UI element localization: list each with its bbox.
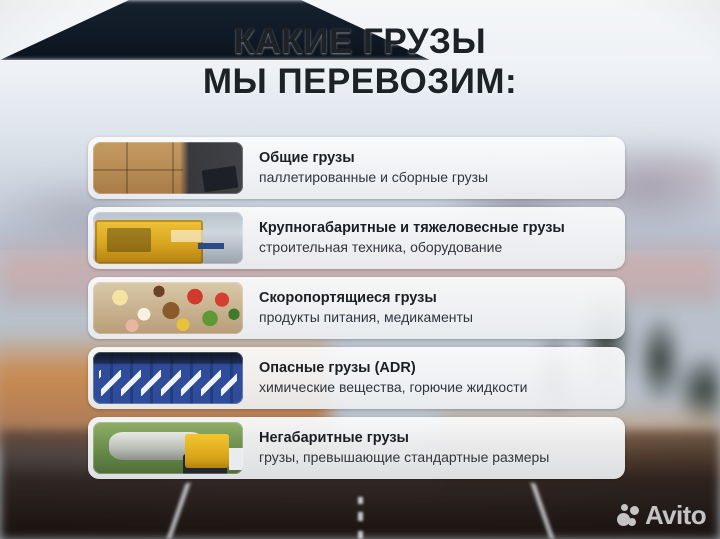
- avito-logo-icon: [617, 504, 639, 526]
- list-item-subtitle: химические вещества, горючие жидкости: [259, 378, 527, 396]
- page-title-line-1: КАКИЕ ГРУЗЫ: [234, 22, 486, 61]
- list-item[interactable]: Скоропортящиеся грузы продукты питания, …: [88, 277, 625, 339]
- road-center-dash: [358, 512, 363, 521]
- thumbnail-oversize-truck: [93, 422, 243, 474]
- list-item-title: Общие грузы: [259, 149, 488, 167]
- poster-canvas: КАКИЕ ГРУЗЫ МЫ ПЕРЕВОЗИМ: Общие грузы па…: [0, 0, 720, 539]
- list-item-text: Негабаритные грузы грузы, превышающие ст…: [243, 429, 559, 466]
- page-title-line-2: МЫ ПЕРЕВОЗИМ:: [0, 62, 720, 102]
- boxes-icon: [93, 142, 243, 194]
- avito-wordmark: Avito: [645, 502, 706, 528]
- list-item-text: Общие грузы паллетированные и сборные гр…: [243, 149, 498, 186]
- list-item-title: Крупногабаритные и тяжеловесные грузы: [259, 219, 565, 237]
- list-item[interactable]: Негабаритные грузы грузы, превышающие ст…: [88, 417, 625, 479]
- list-item[interactable]: Опасные грузы (ADR) химические вещества,…: [88, 347, 625, 409]
- list-item-title: Негабаритные грузы: [259, 429, 549, 447]
- list-item-text: Крупногабаритные и тяжеловесные грузы ст…: [243, 219, 575, 256]
- list-item[interactable]: Общие грузы паллетированные и сборные гр…: [88, 137, 625, 199]
- avito-watermark: Avito: [617, 502, 706, 528]
- thumbnail-food-produce: [93, 282, 243, 334]
- road-center-dash: [358, 497, 363, 504]
- produce-icon: [93, 282, 243, 334]
- list-item-subtitle: строительная техника, оборудование: [259, 238, 565, 256]
- page-title: КАКИЕ ГРУЗЫ МЫ ПЕРЕВОЗИМ:: [0, 22, 720, 101]
- road-center-dash: [358, 531, 363, 539]
- list-item-subtitle: паллетированные и сборные грузы: [259, 168, 488, 186]
- list-item-title: Опасные грузы (ADR): [259, 359, 527, 377]
- truck-icon: [93, 422, 243, 474]
- list-item-subtitle: продукты питания, медикаменты: [259, 308, 473, 326]
- excavator-icon: [93, 212, 243, 264]
- cargo-type-list: Общие грузы паллетированные и сборные гр…: [88, 137, 625, 487]
- list-item-subtitle: грузы, превышающие стандартные размеры: [259, 448, 549, 466]
- list-item-text: Опасные грузы (ADR) химические вещества,…: [243, 359, 537, 396]
- hazard-barrels-icon: [93, 352, 243, 404]
- thumbnail-adr-barrels: [93, 352, 243, 404]
- thumbnail-cardboard-boxes: [93, 142, 243, 194]
- list-item-title: Скоропортящиеся грузы: [259, 289, 473, 307]
- list-item-text: Скоропортящиеся грузы продукты питания, …: [243, 289, 483, 326]
- thumbnail-heavy-machinery: [93, 212, 243, 264]
- list-item[interactable]: Крупногабаритные и тяжеловесные грузы ст…: [88, 207, 625, 269]
